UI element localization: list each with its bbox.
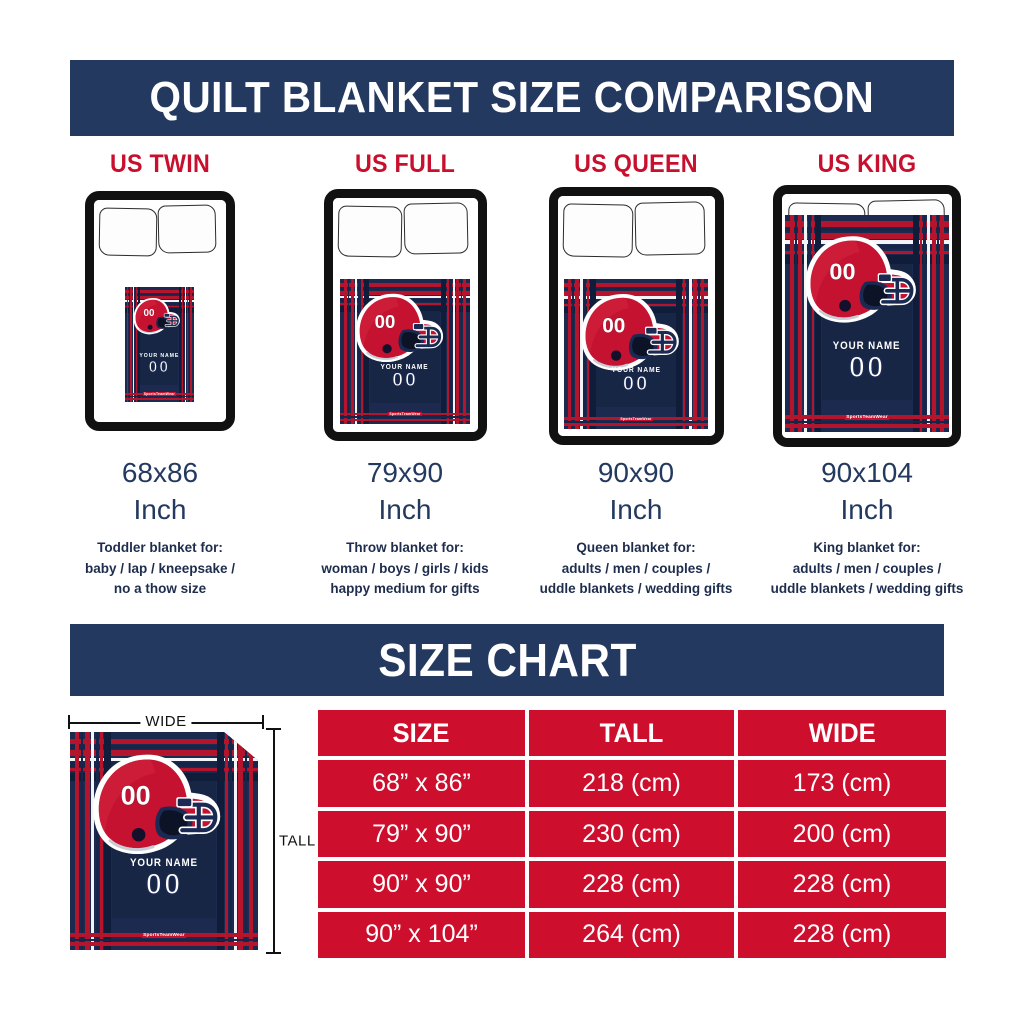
blanket-jersey-number: 00 xyxy=(340,371,469,391)
table-cell-size: 90” x 104” xyxy=(318,912,525,958)
table-header-size: SIZE xyxy=(318,710,525,756)
size-description: Toddler blanket for:baby / lap / kneepsa… xyxy=(40,538,280,600)
stripe-v-right-0 xyxy=(190,287,192,402)
brand-logo: SportsTeamWear xyxy=(70,933,258,938)
wide-dimension-marker: WIDE xyxy=(68,714,264,730)
stripe-v-right-2 xyxy=(187,287,189,402)
size-description: Throw blanket for:woman / boys / girls /… xyxy=(280,538,530,600)
stripe-h-bottom-0 xyxy=(70,942,258,945)
stripe-h-bottom-0 xyxy=(564,423,708,425)
blanket-artwork: 00 YOUR NAME00SportsTeamWea xyxy=(340,279,469,424)
blanket-artwork: 00 YOUR NAME00SportsTeamWea xyxy=(125,287,194,402)
stripe-h-bottom-1 xyxy=(564,421,708,423)
measure-illustration: WIDE TALL 00 xyxy=(60,706,310,962)
table-row: 68” x 86”218 (cm)173 (cm) xyxy=(318,760,946,806)
blanket-jersey-number: 00 xyxy=(125,360,194,376)
table-row: 79” x 90”230 (cm)200 (cm) xyxy=(318,811,946,857)
dimension-value: 90x90 xyxy=(521,455,751,492)
table-cell-wide: 200 (cm) xyxy=(738,811,946,857)
bed-illustration: 00 YOUR NAME00SportsTeamWea xyxy=(549,187,724,445)
svg-text:00: 00 xyxy=(143,308,154,319)
size-description: King blanket for:adults / men / couples … xyxy=(736,538,998,600)
desc-line-2: adults / men / couples / xyxy=(505,559,767,580)
stripe-v-right-1 xyxy=(245,732,248,950)
stripe-v-right-1 xyxy=(698,279,700,429)
table-cell-tall: 264 (cm) xyxy=(529,912,734,958)
stripe-v-right-0 xyxy=(940,215,944,432)
size-label: US FULL xyxy=(298,150,512,179)
tall-cap-top xyxy=(266,728,281,730)
table-row: 90” x 90”228 (cm)228 (cm) xyxy=(318,861,946,907)
size-comparison-infographic: QUILT BLANKET SIZE COMPARISON US TWIN 00 xyxy=(0,0,1024,1024)
stripe-v-right-1 xyxy=(937,215,939,432)
size-chart-table: SIZETALLWIDE68” x 86”218 (cm)173 (cm)79”… xyxy=(318,710,946,958)
stripe-v-left-1 xyxy=(348,279,350,424)
desc-line-3: uddle blankets / wedding gifts xyxy=(736,579,998,600)
table-header-tall: TALL xyxy=(529,710,734,756)
svg-text:00: 00 xyxy=(375,311,396,332)
stripe-v-right-2 xyxy=(456,279,459,424)
table-row: 90” x 104”264 (cm)228 (cm) xyxy=(318,912,946,958)
pillow xyxy=(337,206,402,258)
stripe-v-left-1 xyxy=(795,215,797,432)
dimension-unit: Inch xyxy=(521,492,751,529)
stripe-v-left-0 xyxy=(344,279,347,424)
stripe-h-bottom-1 xyxy=(125,396,194,397)
blanket-jersey-number: 00 xyxy=(785,353,948,382)
football-helmet-icon: 00 xyxy=(353,292,456,369)
stripe-h-bottom-1 xyxy=(785,421,948,423)
stripe-v-left-0 xyxy=(75,732,79,950)
stripe-v-right-1 xyxy=(189,287,190,402)
dimension-unit: Inch xyxy=(45,492,275,529)
size-dimension: 90x104Inch xyxy=(752,455,982,529)
brand-logo: SportsTeamWear xyxy=(785,415,948,420)
stripe-v-right-0 xyxy=(463,279,466,424)
blanket-name-text: YOUR NAME xyxy=(794,340,941,352)
stripe-v-right-2 xyxy=(693,279,697,429)
size-column-us-queen: US QUEEN 00 xyxy=(521,150,751,445)
stripe-v-left-1 xyxy=(572,279,574,429)
pillow xyxy=(563,204,634,258)
stripe-v-right-1 xyxy=(461,279,463,424)
desc-line-1: Throw blanket for: xyxy=(280,538,530,559)
size-chart-banner: SIZE CHART xyxy=(70,624,944,696)
dimension-unit: Inch xyxy=(290,492,520,529)
desc-line-1: Queen blanket for: xyxy=(505,538,767,559)
svg-text:00: 00 xyxy=(829,259,855,285)
svg-text:00: 00 xyxy=(602,315,625,338)
stripe-v-left-1 xyxy=(81,732,84,950)
table-cell-size: 79” x 90” xyxy=(318,811,525,857)
bed-illustration: 00 YOUR NAME00SportsTeamWea xyxy=(324,189,487,441)
size-column-us-full: US FULL 00 xyxy=(290,150,520,441)
pillow xyxy=(635,201,706,255)
table-cell-tall: 228 (cm) xyxy=(529,861,734,907)
desc-line-1: Toddler blanket for: xyxy=(40,538,280,559)
stripe-v-left-0 xyxy=(568,279,571,429)
football-helmet-icon: 00 xyxy=(132,297,187,338)
stripe-h-bottom-0 xyxy=(785,424,948,427)
pillow xyxy=(158,204,217,253)
stripe-h-bottom-1 xyxy=(70,939,258,941)
desc-line-3: happy medium for gifts xyxy=(280,579,530,600)
desc-line-3: no a thow size xyxy=(40,579,280,600)
bed-illustration: 00 YOUR NAME00SportsTeamWea xyxy=(85,191,235,431)
wide-cap-left xyxy=(68,715,70,729)
blanket-jersey-number: 00 xyxy=(564,374,708,394)
dimension-value: 90x104 xyxy=(752,455,982,492)
size-label: US QUEEN xyxy=(529,150,743,179)
table-header-wide: WIDE xyxy=(738,710,946,756)
bed-illustration: 00 YOUR NAME00SportsTeamWea xyxy=(773,185,961,447)
size-dimension: 79x90Inch xyxy=(290,455,520,529)
desc-line-1: King blanket for: xyxy=(736,538,998,559)
table-cell-wide: 228 (cm) xyxy=(738,912,946,958)
dimension-unit: Inch xyxy=(752,492,982,529)
size-description: Queen blanket for:adults / men / couples… xyxy=(505,538,767,600)
size-label: US TWIN xyxy=(53,150,267,179)
desc-line-2: baby / lap / kneepsake / xyxy=(40,559,280,580)
desc-line-2: woman / boys / girls / kids xyxy=(280,559,530,580)
pillow xyxy=(98,207,156,256)
dimension-value: 79x90 xyxy=(290,455,520,492)
desc-line-2: adults / men / couples / xyxy=(736,559,998,580)
stripe-h-bottom-0 xyxy=(340,419,469,421)
tall-dimension-marker: TALL xyxy=(265,728,325,954)
blanket-jersey-number: 00 xyxy=(70,870,258,899)
measure-blanket-art: 00 YOUR NAME00SportsTeamWea xyxy=(70,732,258,950)
stripe-v-right-2 xyxy=(932,215,936,432)
brand-logo: SportsTeamWear xyxy=(340,412,469,416)
size-dimension: 90x90Inch xyxy=(521,455,751,529)
football-helmet-icon: 00 xyxy=(89,752,239,865)
stripe-v-left-0 xyxy=(790,215,794,432)
table-cell-wide: 228 (cm) xyxy=(738,861,946,907)
blanket-artwork: 00 YOUR NAME00SportsTeamWea xyxy=(785,215,948,432)
tall-label: TALL xyxy=(279,829,316,854)
blanket-artwork: 00 YOUR NAME00SportsTeamWea xyxy=(564,279,708,429)
table-cell-tall: 230 (cm) xyxy=(529,811,734,857)
table-cell-wide: 173 (cm) xyxy=(738,760,946,806)
stripe-h-bottom-1 xyxy=(340,416,469,417)
size-chart-title: SIZE CHART xyxy=(378,633,637,687)
tall-line xyxy=(273,728,275,954)
table-cell-size: 68” x 86” xyxy=(318,760,525,806)
size-label: US KING xyxy=(760,150,974,179)
pillow xyxy=(403,203,468,255)
table-cell-tall: 218 (cm) xyxy=(529,760,734,806)
stripe-v-right-0 xyxy=(701,279,704,429)
brand-logo: SportsTeamWear xyxy=(564,417,708,421)
football-helmet-icon: 00 xyxy=(802,234,933,332)
stripe-v-right-0 xyxy=(249,732,253,950)
stripe-h-bottom-0 xyxy=(125,398,194,400)
brand-logo: SportsTeamWear xyxy=(125,392,194,396)
table-header-row: SIZETALLWIDE xyxy=(318,710,946,756)
stripe-v-right-2 xyxy=(238,732,243,950)
size-column-us-king: US KING 00 xyxy=(752,150,982,447)
size-dimension: 68x86Inch xyxy=(45,455,275,529)
wide-label: WIDE xyxy=(140,713,191,730)
size-column-us-twin: US TWIN 00 xyxy=(45,150,275,431)
dimension-value: 68x86 xyxy=(45,455,275,492)
svg-text:00: 00 xyxy=(120,779,150,810)
desc-line-3: uddle blankets / wedding gifts xyxy=(505,579,767,600)
tall-cap-bottom xyxy=(266,952,281,954)
table-cell-size: 90” x 90” xyxy=(318,861,525,907)
top-banner: QUILT BLANKET SIZE COMPARISON xyxy=(70,60,954,136)
top-banner-title: QUILT BLANKET SIZE COMPARISON xyxy=(150,73,875,123)
wide-cap-right xyxy=(262,715,264,729)
